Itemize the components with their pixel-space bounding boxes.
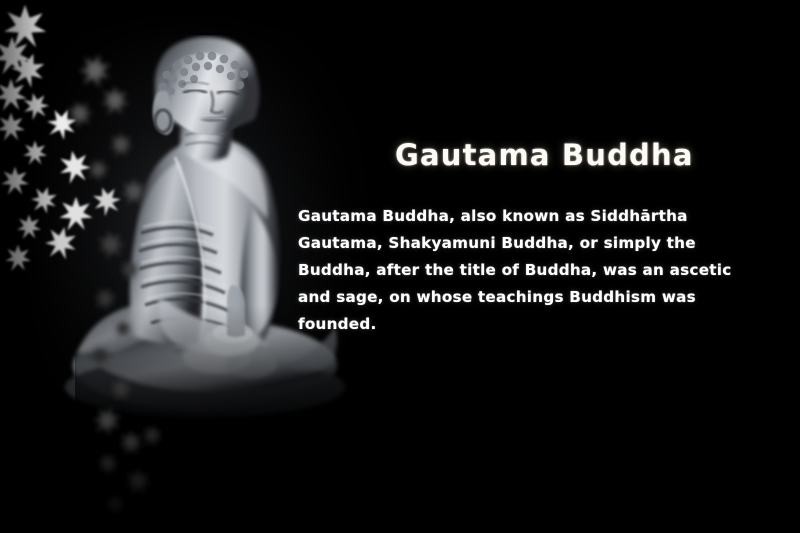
image-canvas: Gautama Buddha Gautama Buddha, also know…	[0, 0, 800, 533]
statue-head	[153, 37, 260, 135]
left-vignette	[0, 0, 60, 533]
page-title: Gautama Buddha	[395, 138, 694, 172]
description-paragraph: Gautama Buddha, also known as Siddhārtha…	[298, 203, 768, 338]
